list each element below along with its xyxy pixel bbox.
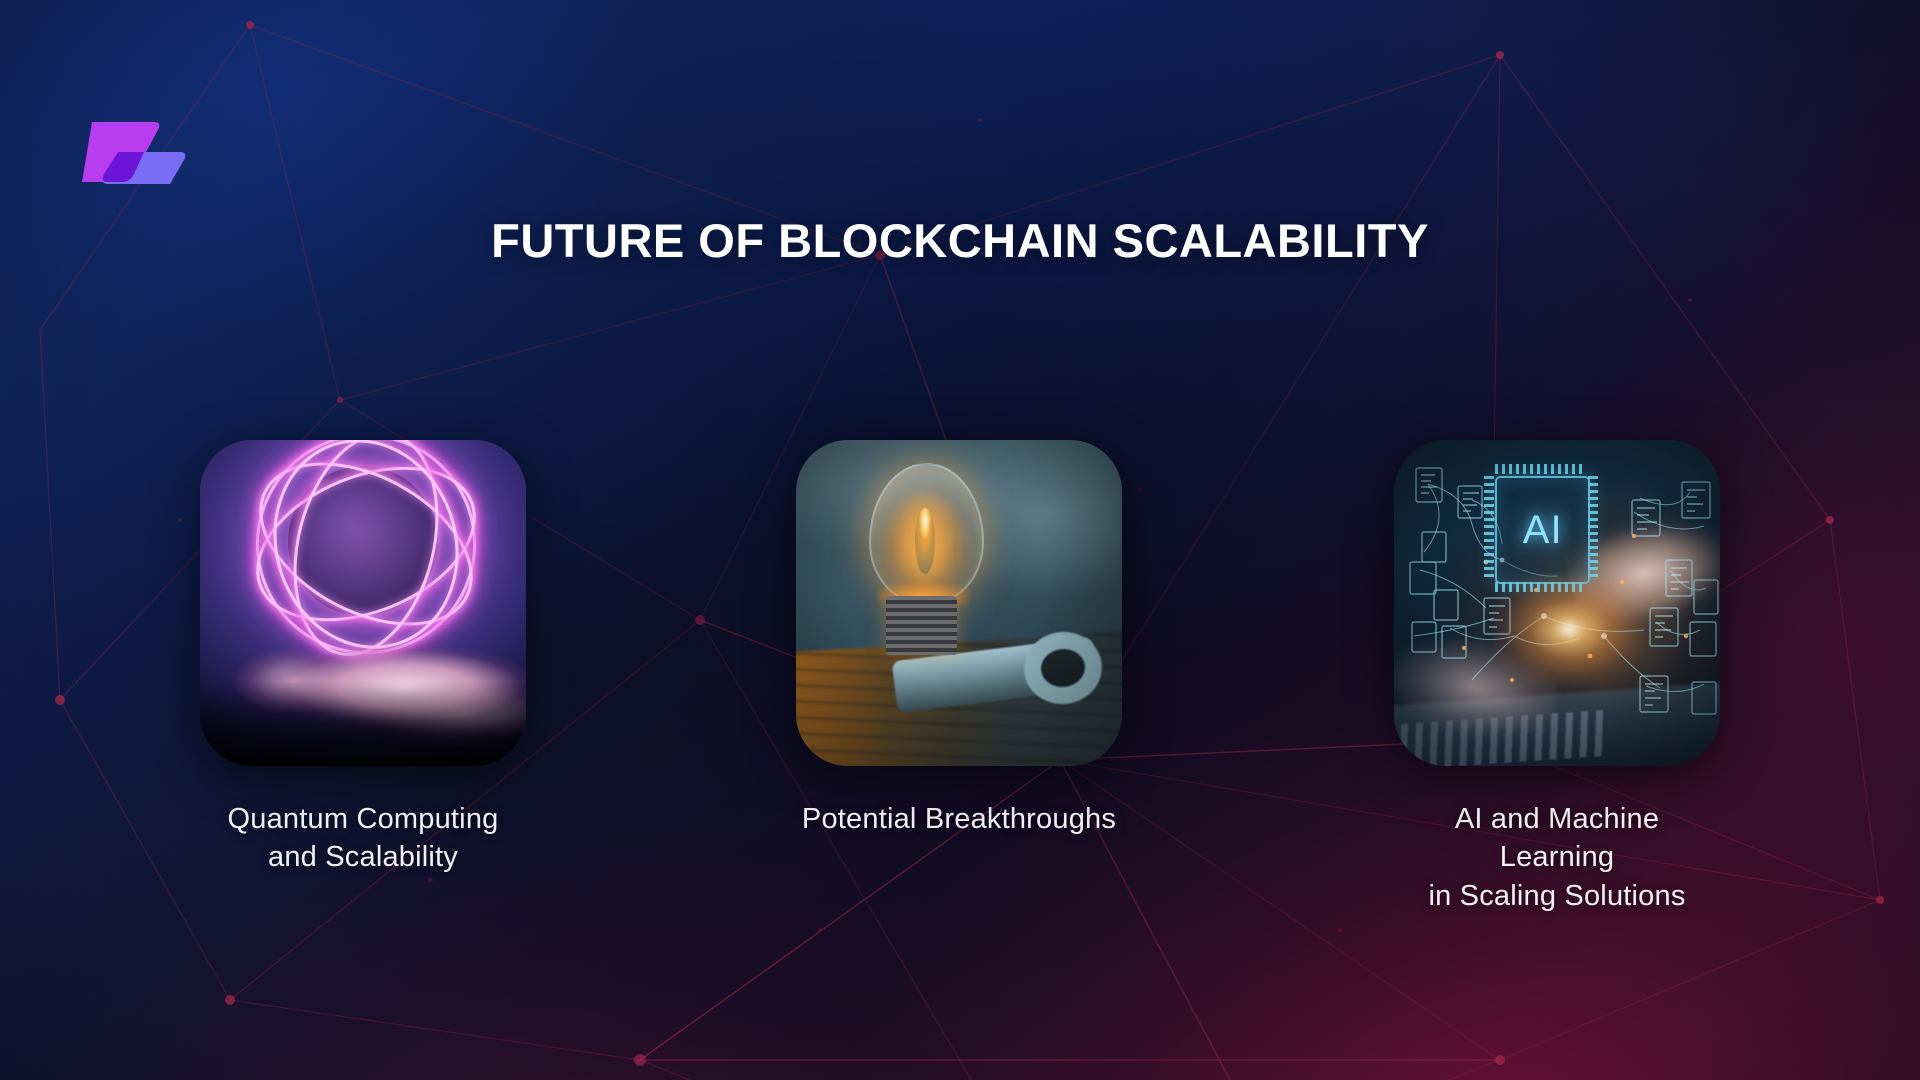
card-ai-machine-learning[interactable]: AI AI and Machine Learning in Scaling So… [1394, 440, 1720, 915]
ai-image-vignette [1394, 440, 1720, 766]
card-caption: AI and Machine Learning in Scaling Solut… [1394, 800, 1720, 915]
card-caption: Quantum Computing and Scalability [200, 800, 526, 877]
quantum-image-shadow [200, 681, 526, 766]
card-quantum-computing[interactable]: Quantum Computing and Scalability [200, 440, 526, 877]
ai-chip-hologram-hands-laptop-image: AI [1394, 440, 1720, 766]
presentation-slide: FUTURE OF BLOCKCHAIN SCALABILITY Quantum… [0, 0, 1920, 1080]
card-caption: Potential Breakthroughs [796, 800, 1122, 838]
company-logo-chevron-icon[interactable] [82, 116, 190, 188]
glowing-lightbulb-on-wood-image [796, 440, 1122, 766]
cards-row: Quantum Computing and Scalability Potent… [0, 440, 1920, 900]
quantum-orbital-sphere-in-hand-image [200, 440, 526, 766]
page-title: FUTURE OF BLOCKCHAIN SCALABILITY [0, 215, 1920, 267]
lightbulb-image-vignette [796, 440, 1122, 766]
card-potential-breakthroughs[interactable]: Potential Breakthroughs [796, 440, 1122, 838]
